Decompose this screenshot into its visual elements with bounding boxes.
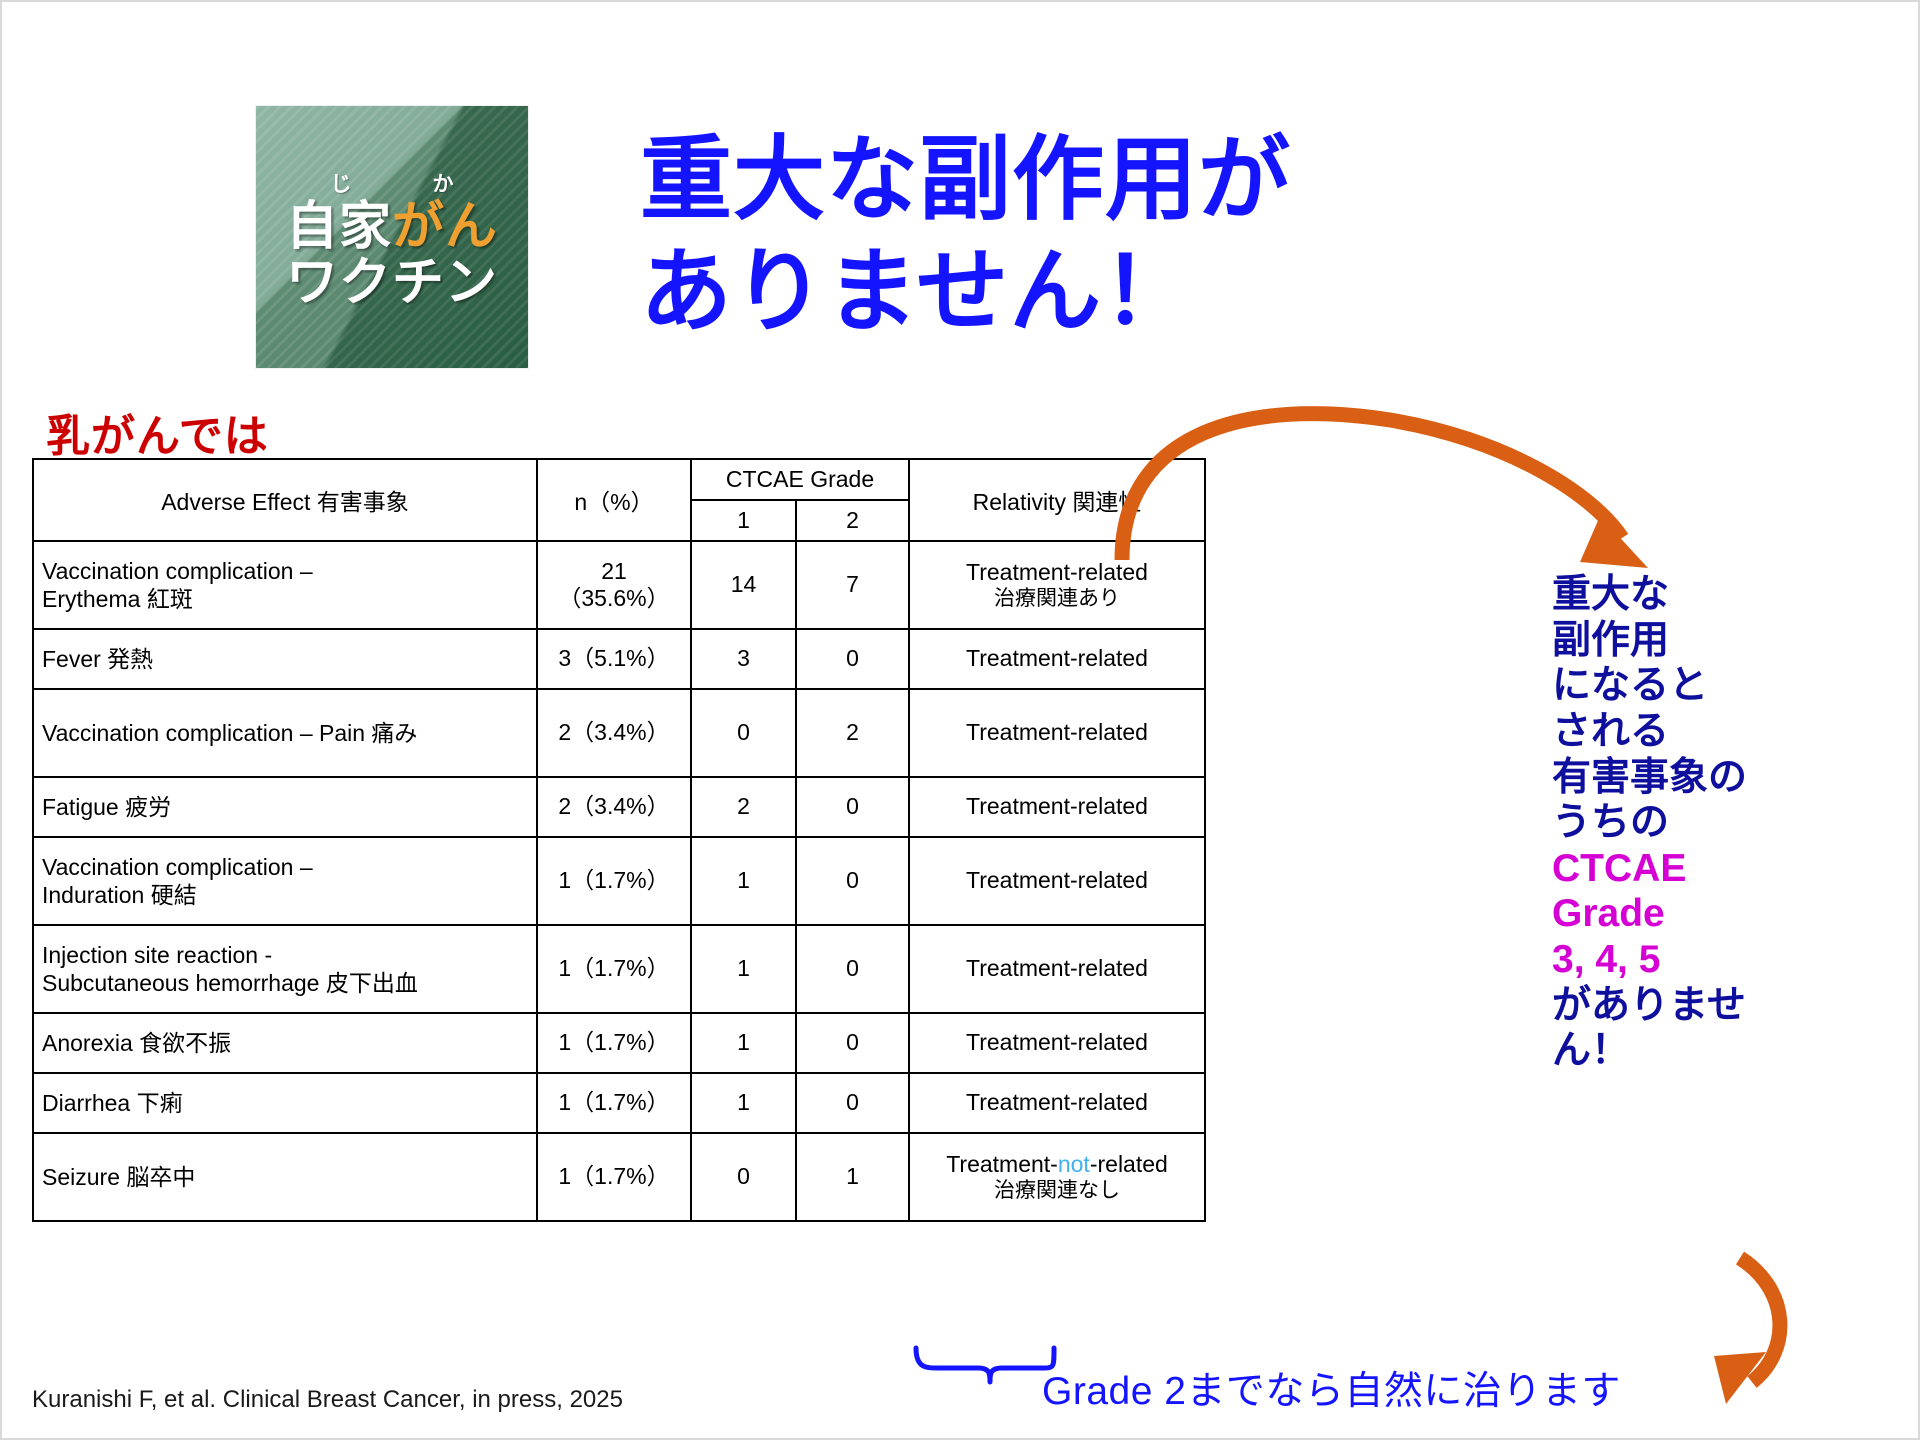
- logo-ruby-text: じ か: [301, 168, 484, 198]
- adverse-effect-line-2: Erythema 紅斑: [42, 585, 528, 613]
- cell-grade-2: 0: [796, 777, 909, 837]
- table-head: Adverse Effect 有害事象 n（%） CTCAE Grade Rel…: [33, 459, 1205, 541]
- n-line-1: 1（1.7%）: [546, 1089, 682, 1116]
- cell-relativity: Treatment-not-related治療関連なし: [909, 1133, 1205, 1221]
- cell-grade-2: 0: [796, 837, 909, 925]
- right-note-line-6: うちの: [1552, 800, 1882, 846]
- relativity-en: Treatment-related: [918, 645, 1196, 673]
- n-line-1: 3（5.1%）: [546, 645, 682, 672]
- relativity-jp: 治療関連なし: [918, 1178, 1196, 1203]
- table-header-row-1: Adverse Effect 有害事象 n（%） CTCAE Grade Rel…: [33, 459, 1205, 500]
- right-note-line-11: ん！: [1552, 1028, 1882, 1074]
- cell-grade-2: 0: [796, 1073, 909, 1133]
- cell-relativity: Treatment-related治療関連あり: [909, 541, 1205, 629]
- table-body: Vaccination complication –Erythema 紅斑21（…: [33, 541, 1205, 1221]
- col-header-ctcae-grade: CTCAE Grade: [691, 459, 909, 500]
- cell-adverse-effect: Vaccination complication –Induration 硬結: [33, 837, 537, 925]
- col-header-n-percent: n（%）: [537, 459, 691, 541]
- right-note-ctcae: CTCAE: [1552, 846, 1882, 892]
- cell-grade-2: 0: [796, 925, 909, 1013]
- cell-grade-1: 1: [691, 925, 796, 1013]
- cell-n-percent: 1（1.7%）: [537, 925, 691, 1013]
- adverse-effect-line-1: Fever 発熱: [42, 645, 528, 673]
- cell-adverse-effect: Fatigue 疲労: [33, 777, 537, 837]
- cell-grade-1: 1: [691, 1073, 796, 1133]
- relativity-prefix: Treatment-: [946, 1151, 1058, 1177]
- adverse-effect-line-2: Induration 硬結: [42, 881, 528, 909]
- cell-adverse-effect: Diarrhea 下痢: [33, 1073, 537, 1133]
- bottom-arrow-head: [1714, 1352, 1766, 1404]
- table-row: Anorexia 食欲不振1（1.7%）10Treatment-related: [33, 1013, 1205, 1073]
- cell-grade-1: 1: [691, 1013, 796, 1073]
- cell-relativity: Treatment-related: [909, 777, 1205, 837]
- n-line-1: 2（3.4%）: [546, 719, 682, 746]
- cell-adverse-effect: Anorexia 食欲不振: [33, 1013, 537, 1073]
- table-row: Vaccination complication – Pain 痛み2（3.4%…: [33, 689, 1205, 777]
- table-row: Vaccination complication –Erythema 紅斑21（…: [33, 541, 1205, 629]
- cell-n-percent: 1（1.7%）: [537, 1013, 691, 1073]
- cell-n-percent: 1（1.7%）: [537, 837, 691, 925]
- right-note-line-4: される: [1552, 709, 1882, 755]
- adverse-effect-line-1: Diarrhea 下痢: [42, 1089, 528, 1117]
- right-annotation-note: 重大な 副作用 になると される 有害事象の うちの CTCAE Grade 3…: [1552, 572, 1882, 1074]
- n-line-1: 1（1.7%）: [546, 1029, 682, 1056]
- logo-text-jika: 自家: [286, 198, 392, 256]
- cell-n-percent: 21（35.6%）: [537, 541, 691, 629]
- cell-grade-2: 0: [796, 1013, 909, 1073]
- cell-grade-2: 2: [796, 689, 909, 777]
- bottom-caption: Grade 2までなら自然に治ります: [1042, 1360, 1621, 1416]
- citation-text: Kuranishi F, et al. Clinical Breast Canc…: [32, 1386, 623, 1414]
- headline-line-1: 重大な副作用が: [640, 124, 1400, 236]
- cell-adverse-effect: Vaccination complication –Erythema 紅斑: [33, 541, 537, 629]
- top-arrow-head: [1580, 516, 1648, 568]
- cell-adverse-effect: Fever 発熱: [33, 629, 537, 689]
- adverse-effect-line-1: Fatigue 疲労: [42, 793, 528, 821]
- col-header-relativity: Relativity 関連性: [909, 459, 1205, 541]
- right-note-line-5: 有害事象の: [1552, 755, 1882, 801]
- adverse-effect-line-1: Seizure 脳卒中: [42, 1163, 528, 1191]
- relativity-suffix: -related: [1090, 1151, 1168, 1177]
- n-line-1: 1（1.7%）: [546, 867, 682, 894]
- cell-grade-1: 1: [691, 837, 796, 925]
- table-row: Fever 発熱3（5.1%）30Treatment-related: [33, 629, 1205, 689]
- relativity-en: Treatment-related: [918, 1089, 1196, 1117]
- right-note-line-2: 副作用: [1552, 618, 1882, 664]
- adverse-effect-line-2: Subcutaneous hemorrhage 皮下出血: [42, 969, 528, 997]
- adverse-effects-table-wrap: Adverse Effect 有害事象 n（%） CTCAE Grade Rel…: [32, 458, 1204, 1222]
- logo-text-gan: がん: [392, 198, 498, 256]
- table-row: Diarrhea 下痢1（1.7%）10Treatment-related: [33, 1073, 1205, 1133]
- right-note-grade-values: 3, 4, 5: [1552, 937, 1882, 983]
- table-row: Injection site reaction -Subcutaneous he…: [33, 925, 1205, 1013]
- cell-grade-1: 0: [691, 689, 796, 777]
- cell-relativity: Treatment-related: [909, 925, 1205, 1013]
- cell-relativity: Treatment-related: [909, 629, 1205, 689]
- cell-grade-1: 14: [691, 541, 796, 629]
- cell-n-percent: 3（5.1%）: [537, 629, 691, 689]
- n-line-1: 1（1.7%）: [546, 955, 682, 982]
- cell-grade-2: 7: [796, 541, 909, 629]
- cell-n-percent: 1（1.7%）: [537, 1073, 691, 1133]
- relativity-jp: 治療関連あり: [918, 586, 1196, 611]
- logo-line-1: 自家がん: [286, 200, 498, 254]
- cell-relativity: Treatment-related: [909, 1013, 1205, 1073]
- col-header-grade-1: 1: [691, 500, 796, 541]
- headline-line-2: ありません！: [640, 236, 1400, 348]
- cell-relativity: Treatment-related: [909, 1073, 1205, 1133]
- adverse-effect-line-1: Injection site reaction -: [42, 941, 528, 969]
- cell-n-percent: 2（3.4%）: [537, 689, 691, 777]
- right-note-line-3: になると: [1552, 663, 1882, 709]
- cell-grade-2: 1: [796, 1133, 909, 1221]
- relativity-not-highlight: not: [1058, 1151, 1090, 1177]
- relativity-en: Treatment-related: [918, 867, 1196, 895]
- relativity-en: Treatment-related: [918, 1029, 1196, 1057]
- table-row: Seizure 脳卒中1（1.7%）01Treatment-not-relate…: [33, 1133, 1205, 1221]
- n-line-1: 1（1.7%）: [546, 1163, 682, 1190]
- col-header-grade-2: 2: [796, 500, 909, 541]
- cell-adverse-effect: Injection site reaction -Subcutaneous he…: [33, 925, 537, 1013]
- adverse-effect-line-1: Vaccination complication –: [42, 557, 528, 585]
- adverse-effect-line-1: Anorexia 食欲不振: [42, 1029, 528, 1057]
- right-note-grade: Grade: [1552, 891, 1882, 937]
- n-line-1: 21: [546, 558, 682, 585]
- cell-adverse-effect: Seizure 脳卒中: [33, 1133, 537, 1221]
- cell-n-percent: 2（3.4%）: [537, 777, 691, 837]
- cell-n-percent: 1（1.7%）: [537, 1133, 691, 1221]
- cell-relativity: Treatment-related: [909, 689, 1205, 777]
- right-note-line-1: 重大な: [1552, 572, 1882, 618]
- product-logo: じ か 自家がん ワクチン: [256, 106, 528, 368]
- adverse-effect-line-1: Vaccination complication –: [42, 853, 528, 881]
- table-row: Vaccination complication –Induration 硬結1…: [33, 837, 1205, 925]
- relativity-en: Treatment-related: [918, 719, 1196, 747]
- table-row: Fatigue 疲労2（3.4%）20Treatment-related: [33, 777, 1205, 837]
- grade-brace: [916, 1348, 1054, 1382]
- logo-line-2: ワクチン: [286, 254, 498, 312]
- n-line-2: （35.6%）: [546, 585, 682, 612]
- n-line-1: 2（3.4%）: [546, 793, 682, 820]
- relativity-en: Treatment-related: [918, 793, 1196, 821]
- relativity-en: Treatment-related: [918, 955, 1196, 983]
- adverse-effects-table: Adverse Effect 有害事象 n（%） CTCAE Grade Rel…: [32, 458, 1206, 1222]
- cell-relativity: Treatment-related: [909, 837, 1205, 925]
- right-note-line-10: がありませ: [1552, 983, 1882, 1029]
- cell-adverse-effect: Vaccination complication – Pain 痛み: [33, 689, 537, 777]
- relativity-en: Treatment-related: [918, 559, 1196, 587]
- cell-grade-1: 2: [691, 777, 796, 837]
- cell-grade-1: 3: [691, 629, 796, 689]
- adverse-effect-line-1: Vaccination complication – Pain 痛み: [42, 719, 528, 747]
- col-header-adverse-effect: Adverse Effect 有害事象: [33, 459, 537, 541]
- section-label-breast-cancer: 乳がんでは: [46, 400, 269, 464]
- relativity-en: Treatment-not-related: [918, 1151, 1196, 1179]
- page-title: 重大な副作用が ありません！: [640, 124, 1400, 348]
- cell-grade-2: 0: [796, 629, 909, 689]
- cell-grade-1: 0: [691, 1133, 796, 1221]
- bottom-curved-arrow-shaft: [1740, 1258, 1780, 1382]
